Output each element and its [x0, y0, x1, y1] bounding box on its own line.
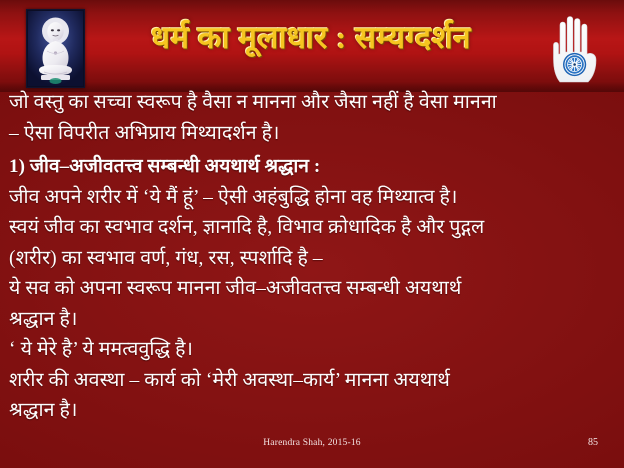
- body-line: जो वस्तु का सच्चा स्वरूप है वैसा न मानना…: [9, 88, 615, 119]
- body-line: ‘ ये मेरे है’ ये ममत्ववुद्धि है।: [9, 335, 615, 366]
- footer-page-number: 85: [588, 437, 598, 448]
- body-line: शरीर की अवस्था – कार्य को ‘मेरी अवस्था–क…: [9, 366, 615, 397]
- body-line: (शरीर) का स्वभाव वर्ण, गंध, रस, स्पर्शाद…: [9, 244, 615, 275]
- body-line: जीव अपने शरीर में ‘ये मैं हूं’ – ऐसी अहं…: [9, 183, 615, 214]
- body-line: स्वयं जीव का स्वभाव दर्शन, ज्ञानादि है, …: [9, 213, 615, 244]
- body-line: श्रद्धान है।: [9, 305, 615, 336]
- footer-credit: Harendra Shah, 2015-16: [0, 438, 624, 448]
- body-line-heading: 1) जीव–अजीवतत्त्व सम्बन्धी अयथार्थ श्रद्…: [9, 152, 615, 183]
- jain-tirthankara-idol-icon: [26, 9, 85, 88]
- presentation-slide: धर्म का मूलाधार : सम्यग्दर्शन: [0, 0, 624, 468]
- body-line: – ऐसा विपरीत अभिप्राय मिथ्यादर्शन है।: [9, 119, 615, 150]
- body-line: ये सव को अपना स्वरूप मानना जीव–अजीवतत्त्…: [9, 274, 615, 305]
- body-line: श्रद्धान है।: [9, 396, 615, 427]
- slide-body-text: जो वस्तु का सच्चा स्वरूप है वैसा न मानना…: [9, 88, 615, 427]
- slide-title: धर्म का मूलाधार : सम्यग्दर्शन: [96, 16, 526, 58]
- jain-ahimsa-hand-icon: [546, 10, 604, 86]
